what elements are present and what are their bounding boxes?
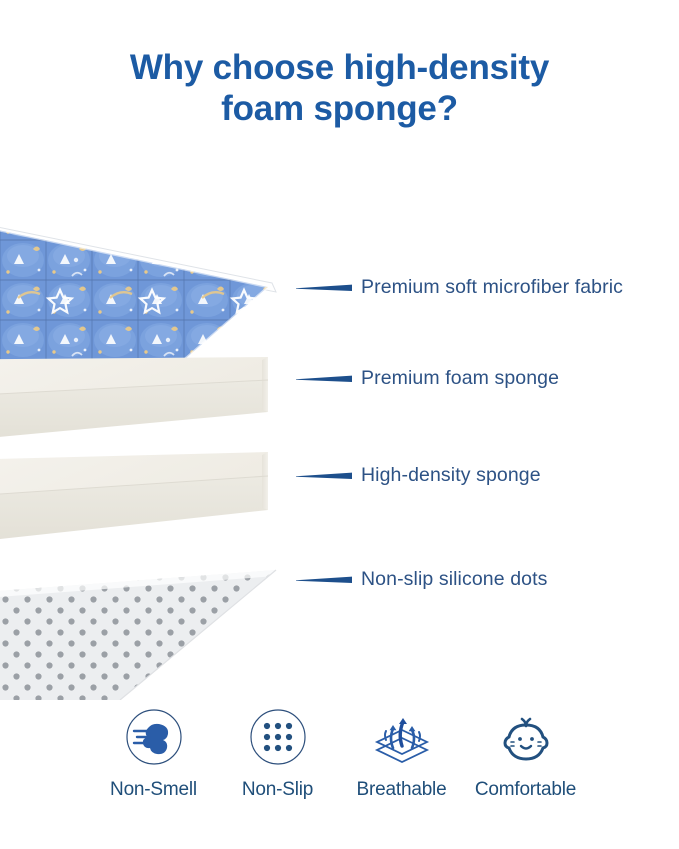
leader-line-icon (296, 575, 352, 585)
feature-badge-row: Non-Smell Non-Slip (0, 704, 679, 801)
callout-label: Non-slip silicone dots (361, 568, 547, 591)
layer-premium-foam (0, 357, 268, 448)
feature-non-slip: Non-Slip (216, 704, 340, 801)
callout-label: High-density sponge (361, 464, 541, 487)
baby-face-icon (497, 704, 555, 770)
exploded-mattress-illustration (0, 0, 400, 700)
airflow-layers-icon (371, 704, 433, 770)
leader-line-icon (296, 471, 352, 481)
feature-non-smell: Non-Smell (92, 704, 216, 801)
feature-label: Comfortable (475, 779, 576, 801)
layer-high-density-foam (0, 452, 268, 552)
feature-breathable: Breathable (340, 704, 464, 801)
callout-non-slip-silicone-dots: Non-slip silicone dots (296, 568, 547, 591)
callout-premium-foam-sponge: Premium foam sponge (296, 367, 559, 390)
callout-label: Premium foam sponge (361, 367, 559, 390)
callout-premium-soft-microfiber-fabric: Premium soft microfiber fabric (296, 276, 623, 299)
callout-high-density-sponge: High-density sponge (296, 464, 541, 487)
layer-silicone-dots (0, 540, 300, 700)
feature-label: Non-Smell (110, 779, 197, 801)
odor-wave-icon (125, 704, 183, 770)
feature-label: Breathable (357, 779, 447, 801)
callout-label: Premium soft microfiber fabric (361, 276, 623, 299)
feature-comfortable: Comfortable (464, 704, 588, 801)
feature-label: Non-Slip (242, 779, 313, 801)
dot-grid-icon (249, 704, 307, 770)
leader-line-icon (296, 283, 352, 293)
leader-line-icon (296, 374, 352, 384)
